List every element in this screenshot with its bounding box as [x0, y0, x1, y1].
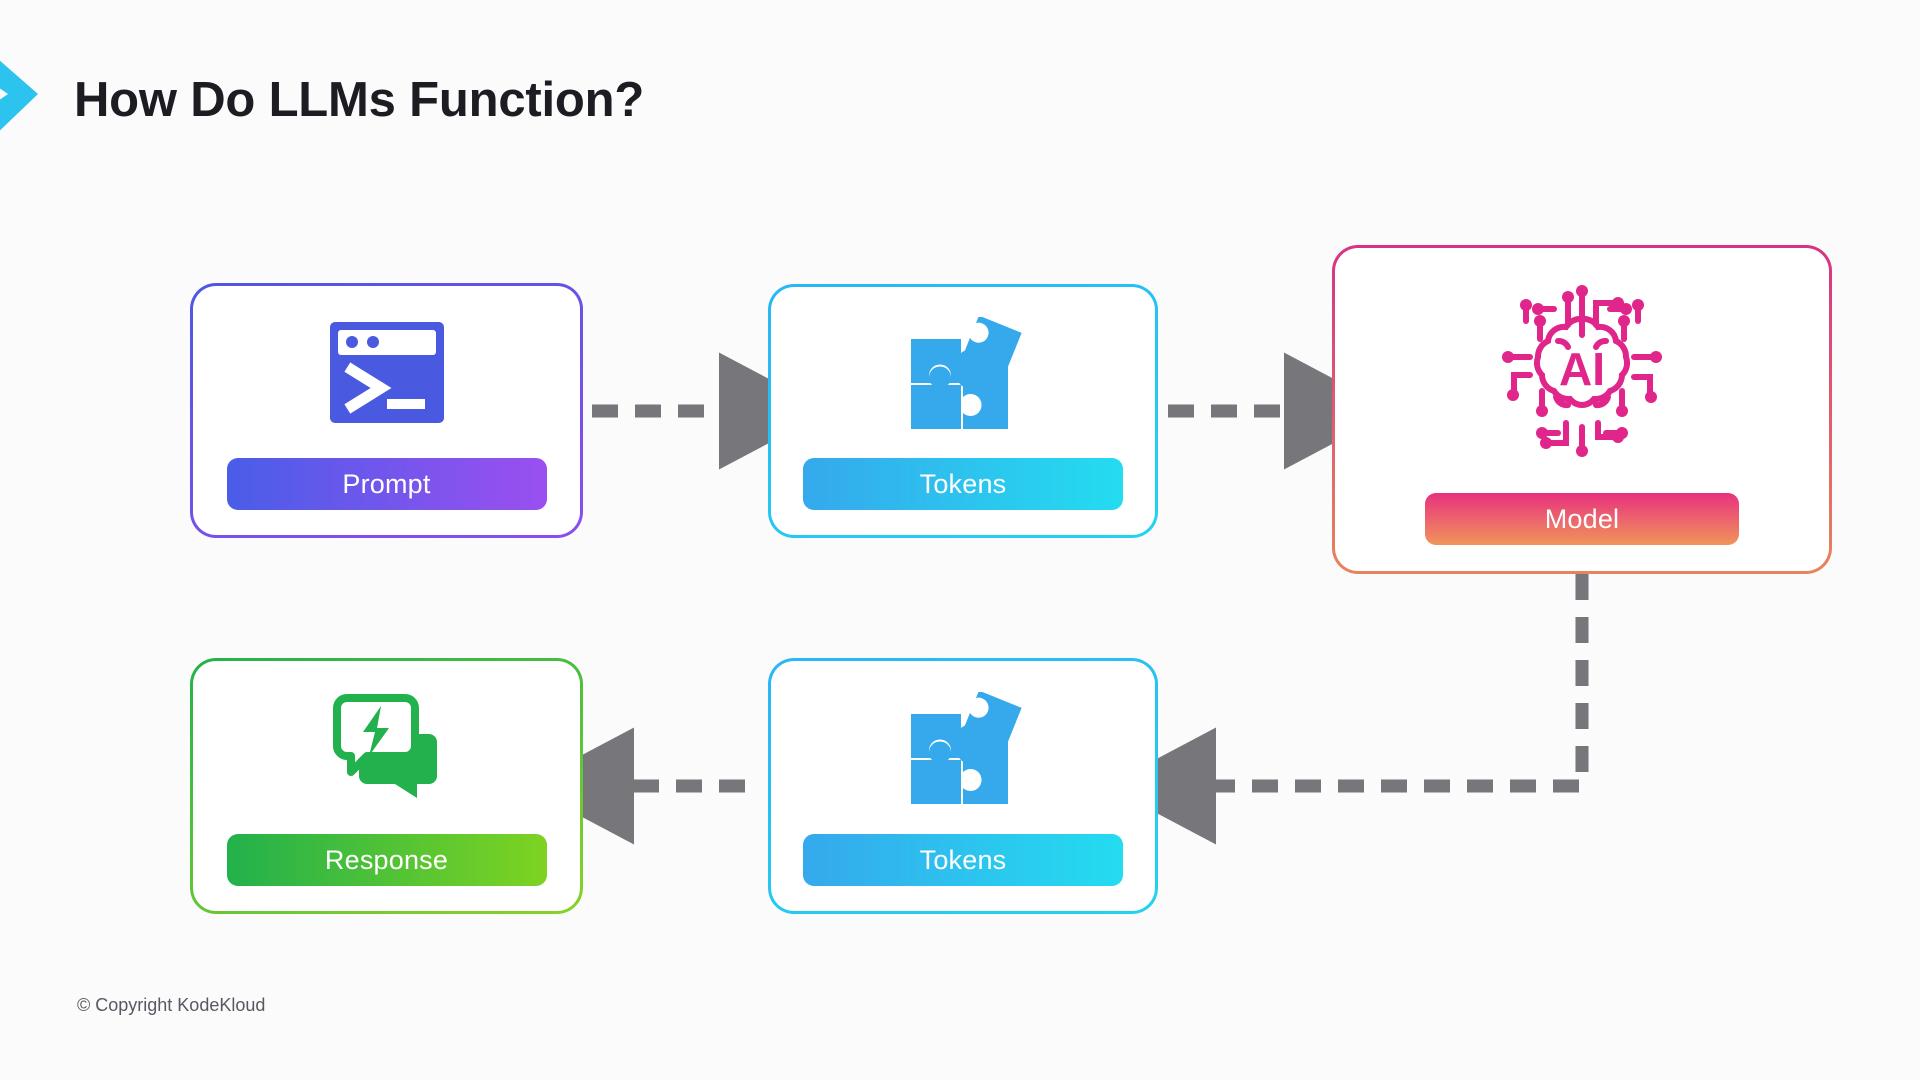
- flow-node-tokens-bottom-body: Tokens: [771, 661, 1155, 911]
- flow-node-response-label: Response: [227, 834, 547, 886]
- chat-bubble-lightning-icon: [193, 661, 580, 834]
- flow-node-prompt[interactable]: Prompt: [190, 283, 583, 538]
- flow-node-model-body: AI Model: [1335, 248, 1829, 571]
- llm-flow-diagram: Prompt Tokens: [0, 0, 1920, 1080]
- ai-brain-circuit-icon: AI: [1335, 248, 1829, 493]
- flow-node-model-label: Model: [1425, 493, 1739, 545]
- footer-copyright: © Copyright KodeKloud: [77, 995, 265, 1016]
- flow-node-response-body: Response: [193, 661, 580, 911]
- puzzle-pieces-icon: [771, 287, 1155, 458]
- flow-node-tokens-top-label: Tokens: [803, 458, 1123, 510]
- ai-brain-icon-text: AI: [1559, 343, 1605, 395]
- flow-node-tokens-bottom-label: Tokens: [803, 834, 1123, 886]
- flow-node-tokens-bottom[interactable]: Tokens: [768, 658, 1158, 914]
- edge-model-to-tokens2: [1190, 574, 1582, 786]
- puzzle-pieces-icon: [771, 661, 1155, 834]
- flow-node-model[interactable]: AI Model: [1332, 245, 1832, 574]
- flow-node-response[interactable]: Response: [190, 658, 583, 914]
- flow-node-prompt-label: Prompt: [227, 458, 547, 510]
- flow-node-tokens-top-body: Tokens: [771, 287, 1155, 535]
- terminal-console-icon: [193, 286, 580, 458]
- flow-node-tokens-top[interactable]: Tokens: [768, 284, 1158, 538]
- flow-node-prompt-body: Prompt: [193, 286, 580, 535]
